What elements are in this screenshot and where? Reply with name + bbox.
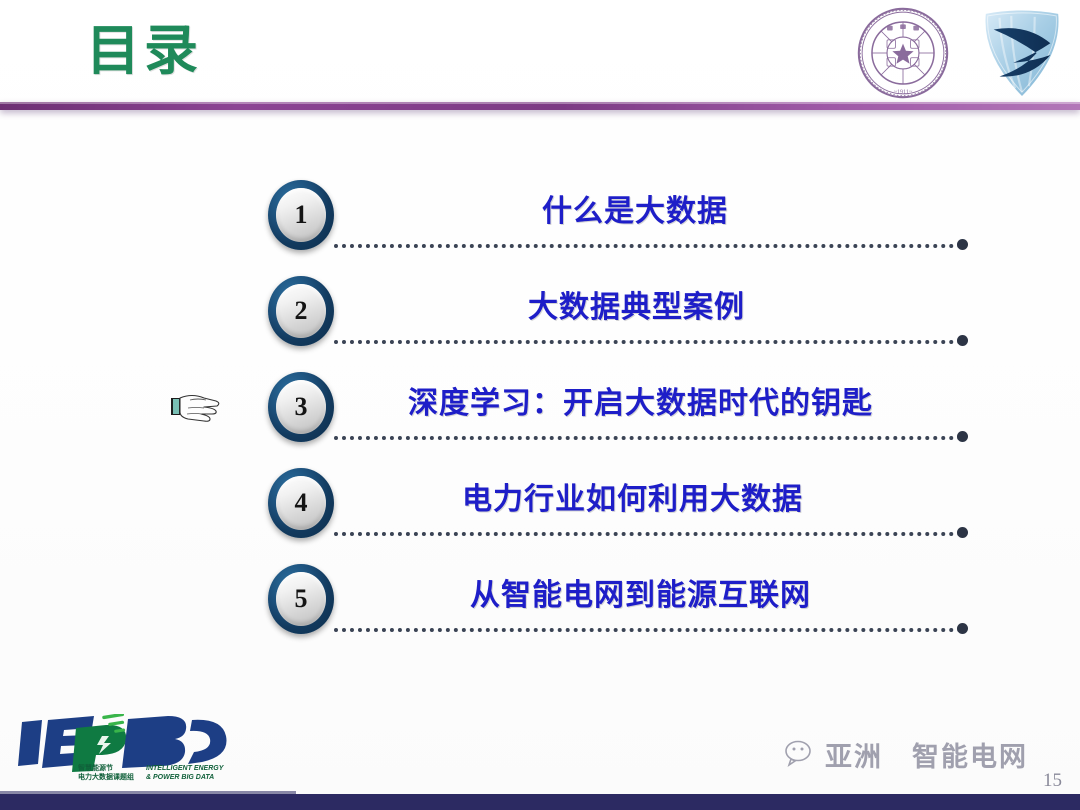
toc-item-2[interactable]: 2 大数据典型案例 — [0, 268, 1080, 364]
slide-header: 目录 — [0, 0, 1080, 112]
toc-item-5[interactable]: 5 从智能电网到能源互联网 — [0, 556, 1080, 652]
iepbd-footer-logo: 智慧能源节 电力大数据课题组 INTELLIGENT ENERGY & POWE… — [16, 714, 260, 788]
footer-bar — [0, 794, 1080, 810]
page-title: 目录 — [86, 22, 202, 81]
iepbd-tagline-cn-1: 智慧能源节 — [78, 764, 134, 773]
toc-item-label: 大数据典型案例 — [528, 282, 745, 326]
toc-number-label: 5 — [276, 572, 326, 626]
shield-logo-icon — [978, 6, 1066, 100]
toc-leader-end-dot — [957, 239, 968, 250]
toc-item-label: 从智能电网到能源互联网 — [470, 570, 811, 614]
toc-item-4[interactable]: 4 电力行业如何利用大数据 — [0, 460, 1080, 556]
slide-canvas: 目录 — [0, 0, 1080, 810]
iepbd-tagline-en-1: INTELLIGENT ENERGY — [146, 764, 223, 773]
page-number: 15 — [1043, 770, 1062, 792]
wechat-icon — [785, 740, 819, 768]
toc-item-1[interactable]: 1 什么是大数据 — [0, 172, 1080, 268]
toc-leader-line — [334, 244, 962, 252]
toc-number-badge: 1 — [268, 180, 334, 250]
iepbd-tagline-en-2: & POWER BIG DATA — [146, 773, 223, 782]
toc-item-label: 电力行业如何利用大数据 — [462, 474, 803, 518]
table-of-contents: 1 什么是大数据 2 大数据典型案例 — [0, 172, 1080, 652]
toc-leader-line — [334, 532, 962, 540]
toc-number-label: 4 — [276, 476, 326, 530]
toc-leader-line — [334, 628, 962, 636]
toc-number-badge: 4 — [268, 468, 334, 538]
toc-leader-line — [334, 436, 962, 444]
toc-leader-line — [334, 340, 962, 348]
toc-leader-end-dot — [957, 527, 968, 538]
toc-item-label: 什么是大数据 — [542, 186, 728, 230]
svg-text:~1911~: ~1911~ — [894, 89, 913, 95]
pointing-hand-icon — [168, 386, 224, 428]
toc-number-badge: 3 — [268, 372, 334, 442]
iepbd-tagline: 智慧能源节 电力大数据课题组 INTELLIGENT ENERGY & POWE… — [78, 764, 223, 782]
toc-number-label: 3 — [276, 380, 326, 434]
toc-item-3[interactable]: 3 深度学习：开启大数据时代的钥匙 — [0, 364, 1080, 460]
toc-number-badge: 2 — [268, 276, 334, 346]
watermark-text: 亚洲 智能电网 — [825, 735, 1028, 774]
toc-number-label: 2 — [276, 284, 326, 338]
toc-item-label: 深度学习：开启大数据时代的钥匙 — [408, 378, 873, 422]
tsinghua-seal-icon: ~1911~ — [856, 6, 950, 100]
toc-number-label: 1 — [276, 188, 326, 242]
toc-leader-end-dot — [957, 431, 968, 442]
header-divider — [0, 102, 1080, 110]
iepbd-tagline-cn-2: 电力大数据课题组 — [78, 773, 134, 782]
toc-leader-end-dot — [957, 335, 968, 346]
logo-zone: ~1911~ — [846, 2, 1074, 102]
wechat-watermark: 亚洲 智能电网 — [785, 734, 1028, 774]
toc-leader-end-dot — [957, 623, 968, 634]
toc-number-badge: 5 — [268, 564, 334, 634]
